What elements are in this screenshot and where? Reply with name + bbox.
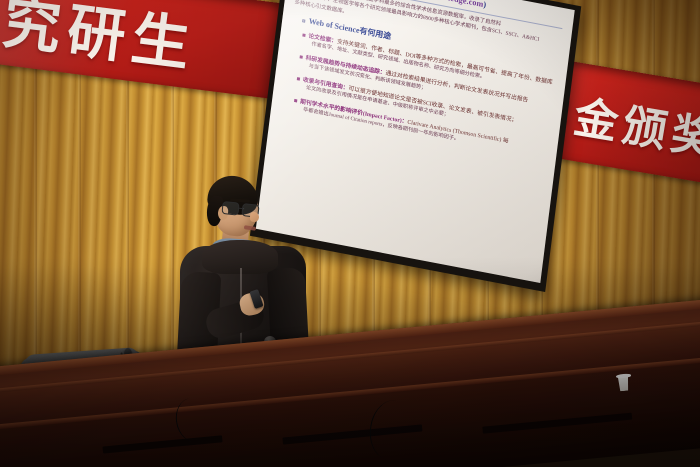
slide-content: 的 Web of Science (http://apps.webofknowl… <box>281 0 564 160</box>
square-bullet-icon <box>297 77 300 81</box>
square-bullet-icon <box>302 34 305 38</box>
slide-title-suffix: ) <box>483 0 487 9</box>
presenter-nose <box>250 212 260 223</box>
square-bullet-icon <box>294 99 297 103</box>
bullet-marker-icon <box>302 19 305 22</box>
square-bullet-icon <box>300 55 303 59</box>
lecture-hall-photo: 究研生 奖学金颁奖仪式 的 Web of Science (http://app… <box>0 0 700 467</box>
